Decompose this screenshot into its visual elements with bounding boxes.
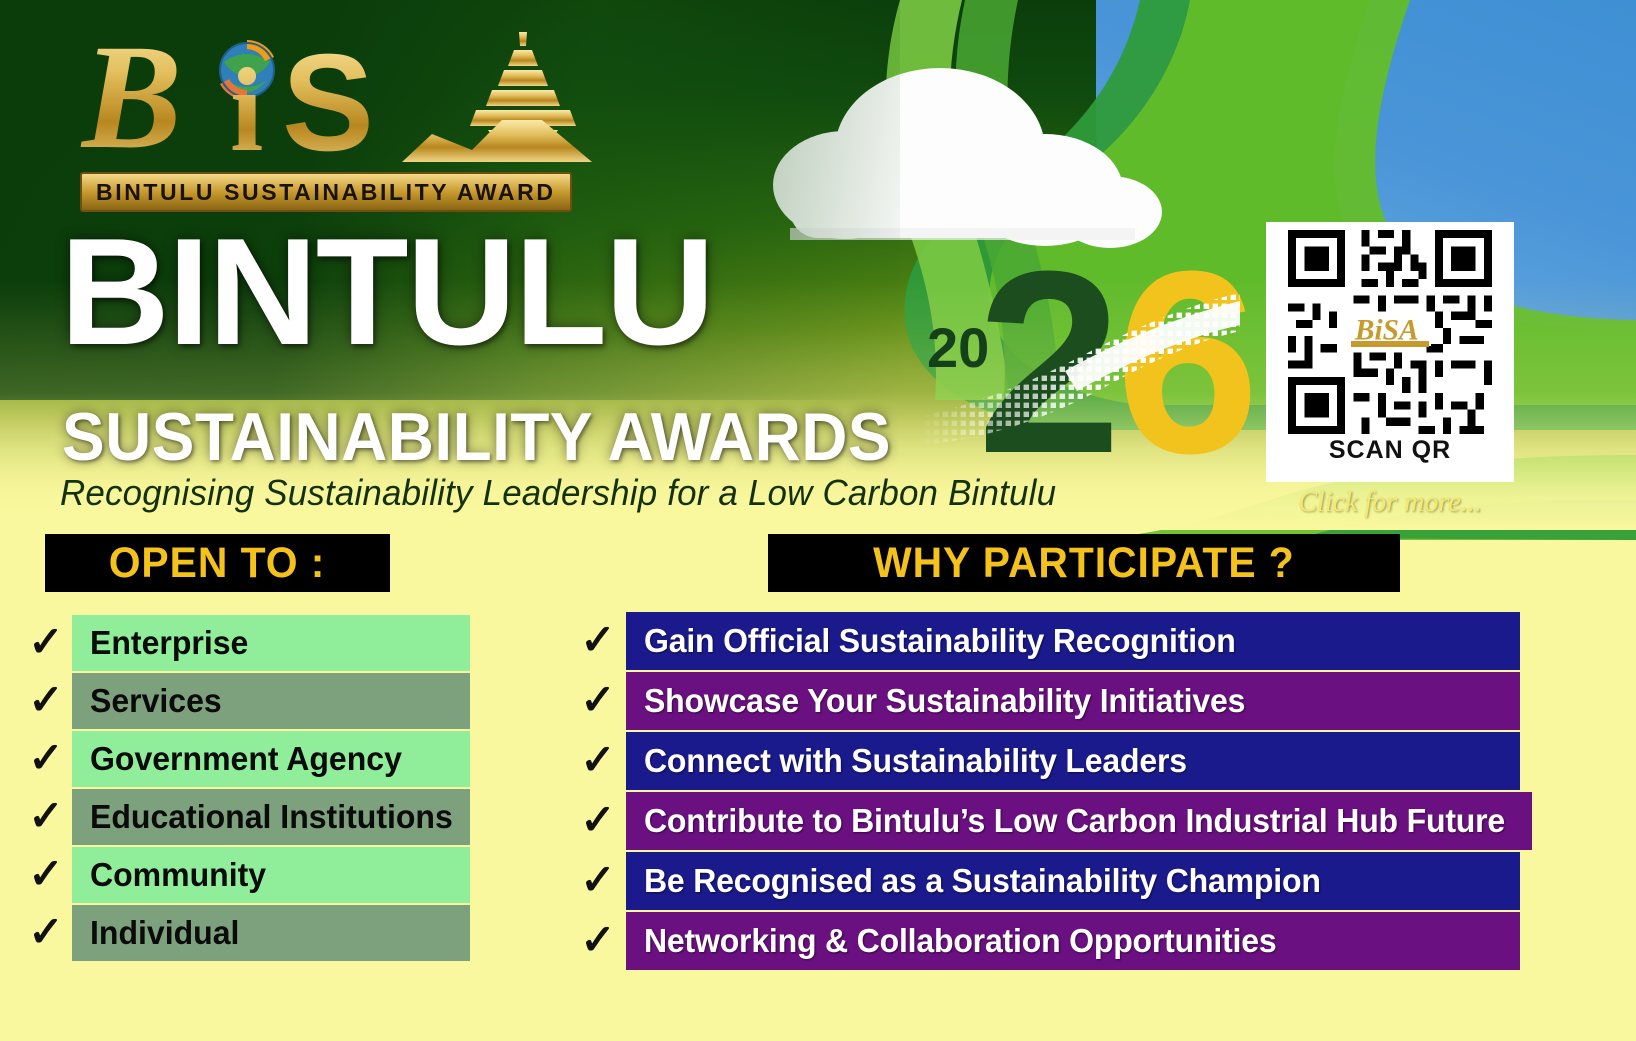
qr-code-icon[interactable]: BiSA (1283, 230, 1497, 434)
qr-caption[interactable]: Click for more... (1266, 487, 1514, 519)
check-icon: ✓ (570, 612, 626, 670)
check-icon: ✓ (570, 852, 626, 910)
bisa-logo-mark: B i S (72, 22, 672, 172)
why-chip: Networking & Collaboration Opportunities (626, 912, 1520, 970)
why-label: Gain Official Sustainability Recognition (644, 622, 1236, 660)
open-to-label: Educational Institutions (90, 798, 453, 836)
list-item: ✓ Individual (20, 905, 470, 961)
poster-root: B i S BINTULU SUSTAINABILIT (0, 0, 1636, 1041)
list-item: ✓ Services (20, 673, 470, 729)
why-participate-list: ✓ Gain Official Sustainability Recogniti… (570, 612, 1520, 972)
qr-center-logo-icon: BiSA (1351, 314, 1429, 347)
open-to-chip: Government Agency (72, 731, 470, 787)
open-to-chip: Community (72, 847, 470, 903)
page-subtitle: SUSTAINABILITY AWARDS (62, 398, 891, 476)
check-icon: ✓ (20, 847, 72, 903)
section-header-open-to-label: OPEN TO : (109, 539, 326, 588)
why-chip: Be Recognised as a Sustainability Champi… (626, 852, 1520, 910)
why-chip: Showcase Your Sustainability Initiatives (626, 672, 1520, 730)
check-icon: ✓ (570, 792, 626, 850)
list-item: ✓ Be Recognised as a Sustainability Cham… (570, 852, 1520, 910)
list-item: ✓ Gain Official Sustainability Recogniti… (570, 612, 1520, 670)
svg-text:S: S (282, 26, 374, 172)
check-icon: ✓ (20, 615, 72, 671)
year-digit-big: 2 (977, 233, 1122, 493)
check-icon: ✓ (20, 789, 72, 845)
open-to-label: Enterprise (90, 624, 248, 662)
bisa-logo[interactable]: B i S BINTULU SUSTAINABILIT (72, 22, 672, 212)
check-icon: ✓ (20, 673, 72, 729)
list-item: ✓ Connect with Sustainability Leaders (570, 732, 1520, 790)
open-to-chip: Services (72, 673, 470, 729)
logo-ribbon: BINTULU SUSTAINABILITY AWARD (80, 172, 572, 212)
list-item: ✓ Networking & Collaboration Opportuniti… (570, 912, 1520, 970)
year-prefix: 20 (927, 315, 989, 380)
check-icon: ✓ (20, 731, 72, 787)
why-label: Be Recognised as a Sustainability Champi… (644, 862, 1321, 900)
why-label: Networking & Collaboration Opportunities (644, 922, 1276, 960)
open-to-list: ✓ Enterprise ✓ Services ✓ Government Age… (20, 615, 470, 963)
section-header-why-participate: WHY PARTICIPATE ? (768, 534, 1400, 592)
list-item: ✓ Contribute to Bintulu’s Low Carbon Ind… (570, 792, 1520, 850)
list-item: ✓ Community (20, 847, 470, 903)
check-icon: ✓ (570, 732, 626, 790)
open-to-chip: Enterprise (72, 615, 470, 671)
open-to-chip: Educational Institutions (72, 789, 470, 845)
year-graphic: 6 2 20 (905, 225, 1235, 505)
why-label: Connect with Sustainability Leaders (644, 742, 1187, 780)
why-chip: Connect with Sustainability Leaders (626, 732, 1520, 790)
check-icon: ✓ (570, 912, 626, 970)
open-to-label: Services (90, 682, 222, 720)
check-icon: ✓ (570, 672, 626, 730)
list-item: ✓ Enterprise (20, 615, 470, 671)
list-item: ✓ Educational Institutions (20, 789, 470, 845)
section-header-why-participate-label: WHY PARTICIPATE ? (873, 539, 1295, 588)
logo-ribbon-text: BINTULU SUSTAINABILITY AWARD (96, 179, 556, 206)
list-item: ✓ Showcase Your Sustainability Initiativ… (570, 672, 1520, 730)
tower-icon (402, 32, 592, 162)
year-digit-last: 6 (1115, 233, 1260, 493)
check-icon: ✓ (20, 905, 72, 961)
qr-label: SCAN QR (1329, 436, 1451, 465)
open-to-label: Community (90, 856, 266, 894)
why-label: Contribute to Bintulu’s Low Carbon Indus… (644, 802, 1505, 840)
svg-text:i: i (230, 43, 263, 172)
page-title: BINTULU (60, 218, 713, 367)
why-label: Showcase Your Sustainability Initiatives (644, 682, 1245, 720)
open-to-label: Government Agency (90, 740, 402, 778)
svg-text:B: B (80, 22, 182, 172)
list-item: ✓ Government Agency (20, 731, 470, 787)
why-chip: Contribute to Bintulu’s Low Carbon Indus… (626, 792, 1532, 850)
open-to-label: Individual (90, 914, 239, 952)
section-header-open-to: OPEN TO : (45, 534, 390, 592)
why-chip: Gain Official Sustainability Recognition (626, 612, 1520, 670)
qr-card[interactable]: BiSA SCAN QR (1266, 222, 1514, 482)
open-to-chip: Individual (72, 905, 470, 961)
